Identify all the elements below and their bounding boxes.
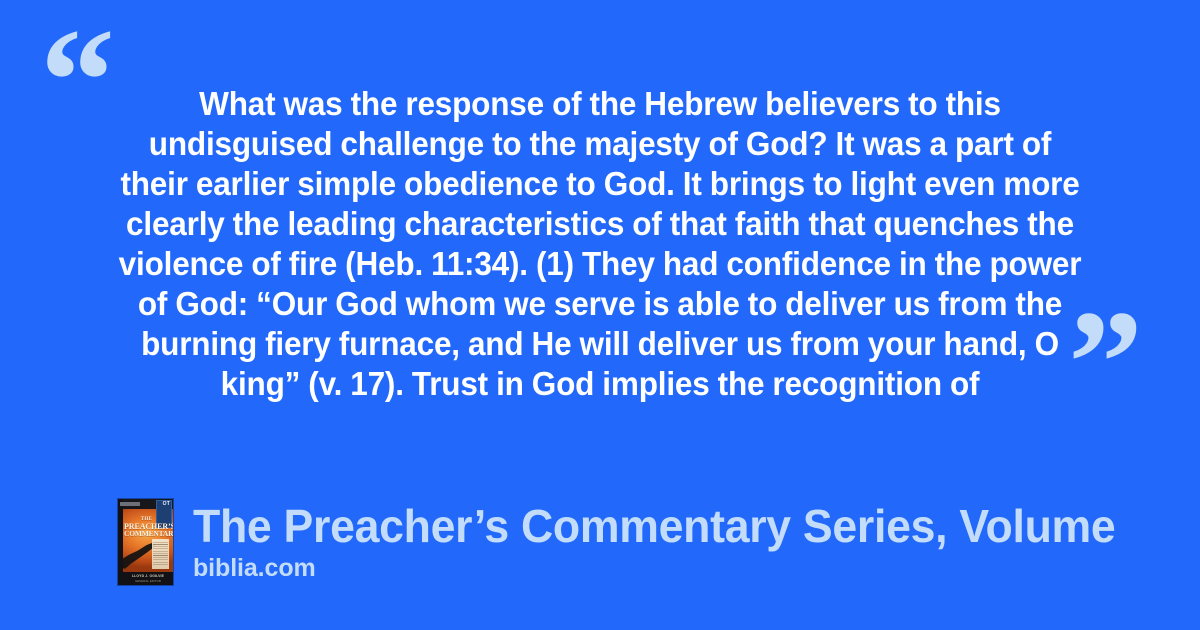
quote-text: What was the response of the Hebrew beli… (118, 84, 1083, 404)
book-cover-page-lines (153, 542, 168, 566)
book-cover-thumbnail: OT THE PREACHER’S COMMENTARY LLOYD J. OG… (118, 499, 173, 585)
attribution-bar: OT THE PREACHER’S COMMENTARY LLOYD J. OG… (118, 499, 1144, 585)
source-website: biblia.com (193, 554, 1144, 582)
opening-quote-icon: “ (40, 6, 113, 156)
closing-quote-icon: ” (1068, 288, 1141, 438)
book-cover-testament-label: OT (163, 501, 170, 507)
book-cover-imprint-mark (120, 502, 140, 506)
book-cover-title-line-3: COMMENTARY (124, 530, 169, 537)
book-cover-author: LLOYD J. OGILVIE (123, 574, 173, 578)
book-cover-author-subtitle: GENERAL EDITOR (123, 579, 173, 583)
source-title: The Preacher’s Commentary Series, Volume (193, 500, 1115, 552)
quote-card: “ What was the response of the Hebrew be… (0, 0, 1200, 630)
book-cover-title: THE PREACHER’S COMMENTARY (124, 516, 169, 537)
attribution-text-block: The Preacher’s Commentary Series, Volume… (193, 499, 1144, 582)
